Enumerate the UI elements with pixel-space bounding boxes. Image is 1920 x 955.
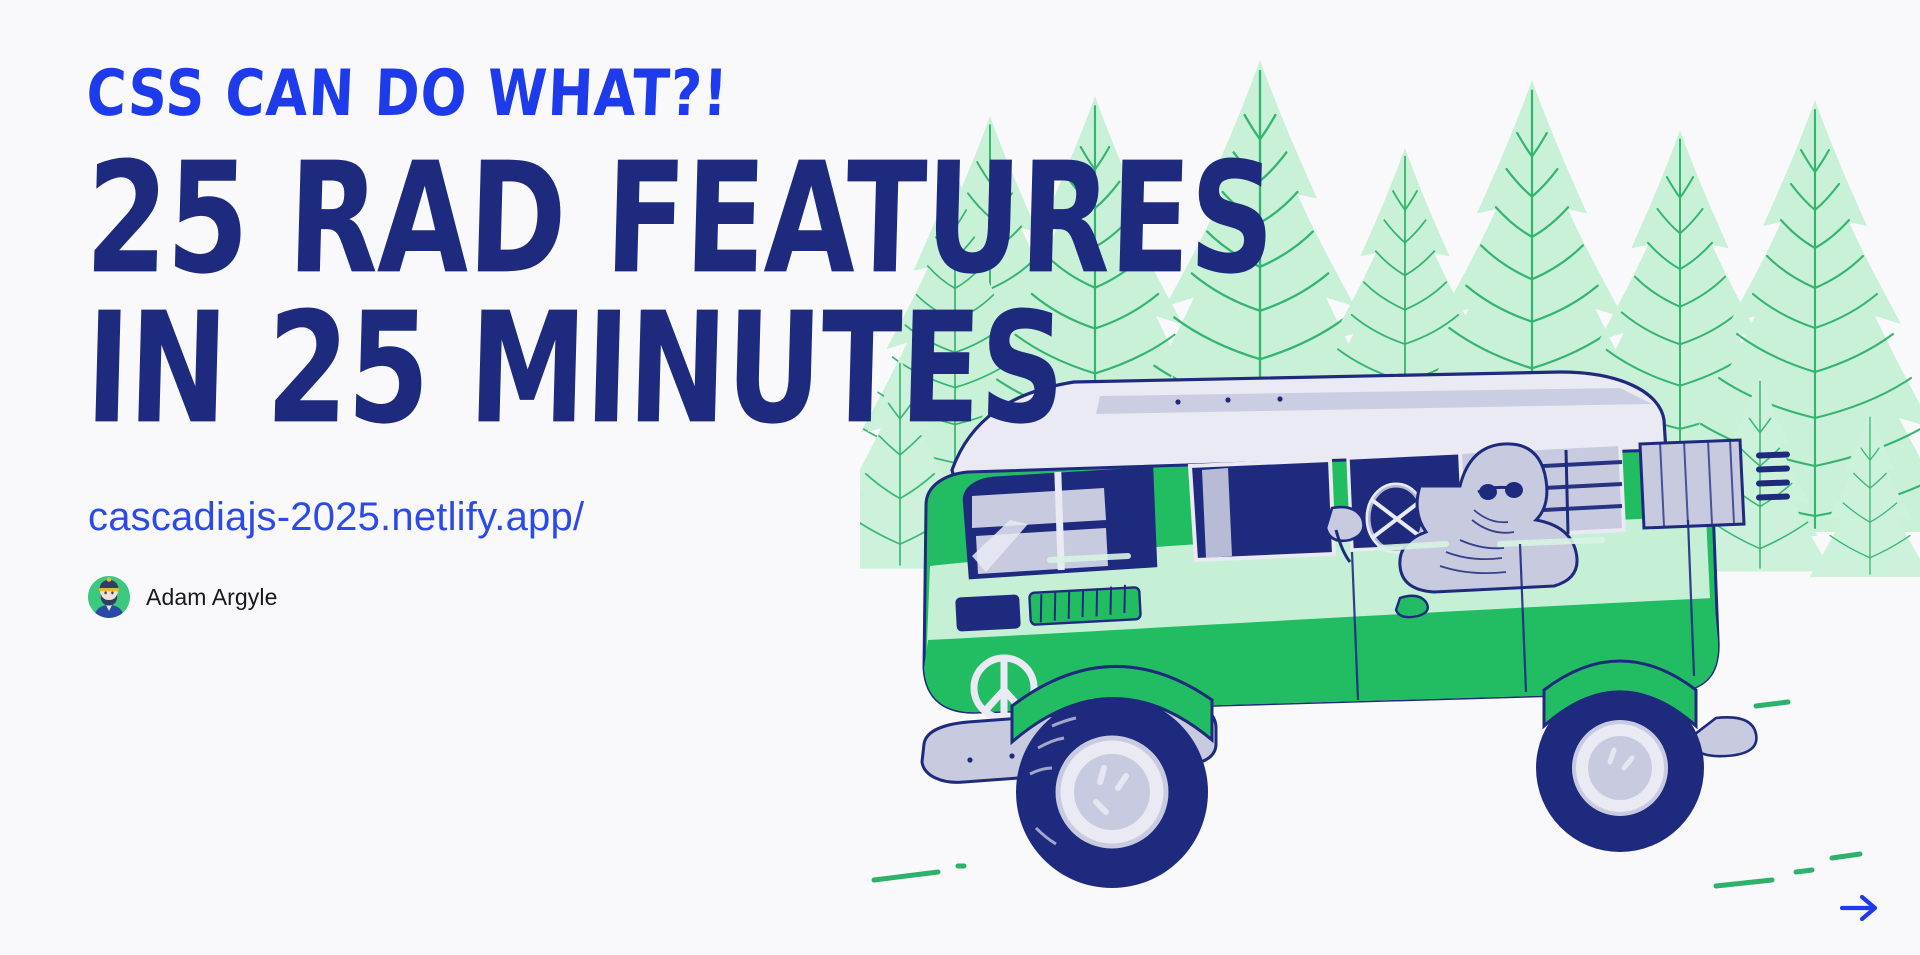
rear-wheel	[1536, 684, 1704, 852]
front-wheel	[1016, 696, 1208, 888]
avatar	[88, 576, 130, 618]
author-name: Adam Argyle	[146, 584, 278, 611]
peace-sign-icon	[974, 658, 1034, 718]
slide-text-column: CSS CAN DO WHAT?! 25 RAD FEATURES IN 25 …	[88, 62, 1168, 618]
slide-eyebrow: CSS CAN DO WHAT?!	[85, 62, 1168, 126]
next-slide-button[interactable]	[1838, 891, 1882, 931]
headline-line-2: IN 25 MINUTES	[84, 294, 1168, 444]
ground-dashes	[874, 702, 1860, 886]
presentation-slide: CSS CAN DO WHAT?! 25 RAD FEATURES IN 25 …	[0, 0, 1920, 955]
avatar-illustration-icon	[88, 576, 130, 618]
slide-url-link[interactable]: cascadiajs-2025.netlify.app/	[88, 495, 584, 540]
author-row: Adam Argyle	[88, 576, 1168, 618]
page-title: 25 RAD FEATURES IN 25 MINUTES	[88, 144, 1168, 409]
arrow-right-icon	[1838, 891, 1882, 925]
sasquatch-icon	[1400, 444, 1577, 592]
headline-line-1: 25 RAD FEATURES	[84, 144, 1168, 294]
